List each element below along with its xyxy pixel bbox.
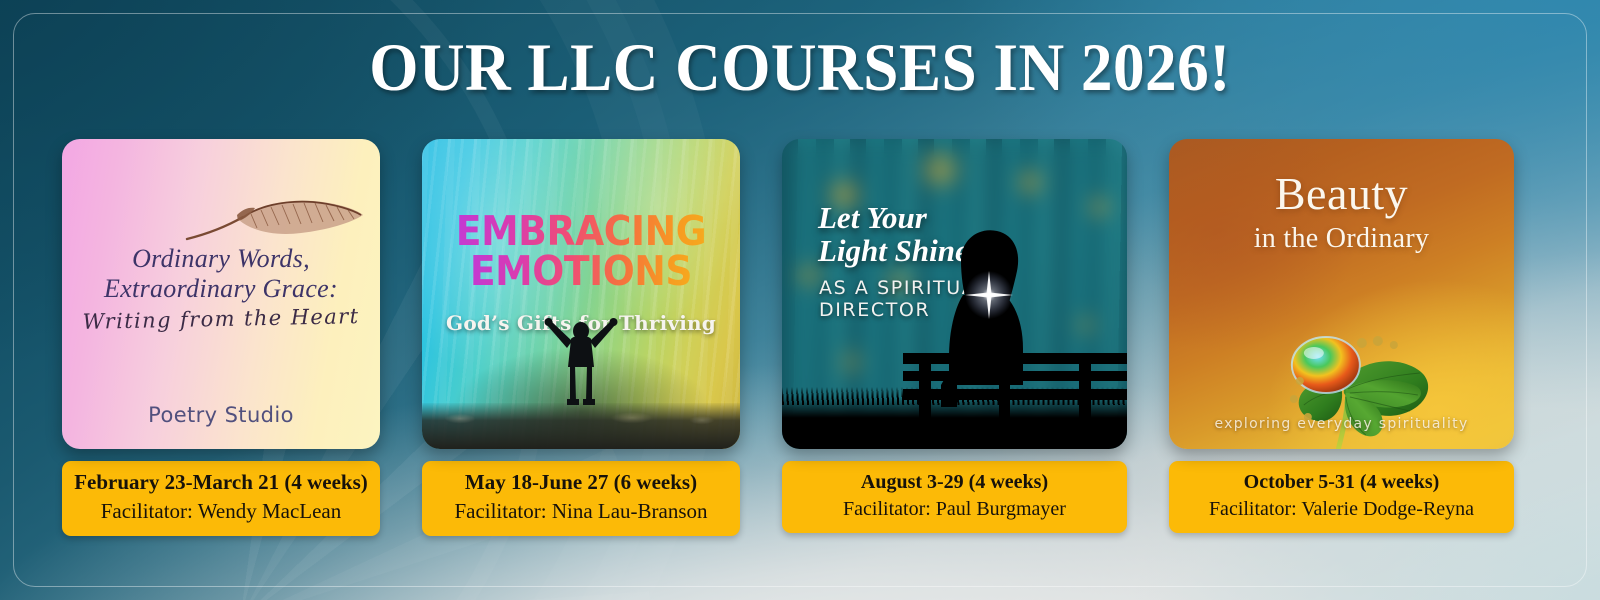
course-caption-let-your-light-shine: August 3-29 (4 weeks) Facilitator: Paul … — [782, 461, 1127, 533]
embracing-emotions-title: EMBRACING EMOTIONS — [435, 211, 728, 291]
course-artwork-beauty-in-the-ordinary: Beauty in the Ordinary — [1169, 139, 1514, 449]
poetry-footer: Poetry Studio — [62, 403, 380, 427]
course-facilitator: Facilitator: Wendy MacLean — [70, 498, 372, 525]
course-facilitator: Facilitator: Paul Burgmayer — [790, 496, 1119, 522]
course-artwork-embracing-emotions: EMBRACING EMOTIONS God’s Gifts for Thriv… — [422, 139, 740, 449]
ee-title-line2: EMOTIONS — [470, 251, 692, 291]
course-card-let-your-light-shine[interactable]: Let Your Light Shine AS A SPIRITUAL DIRE… — [782, 139, 1127, 551]
course-caption-embracing-emotions: May 18-June 27 (6 weeks) Facilitator: Ni… — [422, 461, 740, 536]
course-card-beauty-in-the-ordinary[interactable]: Beauty in the Ordinary — [1169, 139, 1514, 551]
poetry-title-line2: Extraordinary Grace: — [62, 274, 380, 304]
course-dates: October 5-31 (4 weeks) — [1177, 470, 1506, 494]
ground-silhouette — [782, 397, 1127, 449]
banner-title: OUR LLC COURSES IN 2026! — [56, 33, 1544, 101]
beauty-title: Beauty — [1169, 171, 1514, 217]
course-card-ordinary-words[interactable]: Ordinary Words, Extraordinary Grace: Wri… — [62, 139, 380, 551]
course-facilitator: Facilitator: Valerie Dodge-Reyna — [1177, 496, 1506, 522]
ee-title-line1: EMBRACING — [456, 211, 706, 251]
feather-quill-icon — [181, 197, 366, 243]
course-caption-ordinary-words: February 23-March 21 (4 weeks) Facilitat… — [62, 461, 380, 536]
course-artwork-let-your-light-shine: Let Your Light Shine AS A SPIRITUAL DIRE… — [782, 139, 1127, 449]
poetry-subtitle: Writing from the Heart — [62, 304, 380, 335]
beauty-footer: exploring everyday spirituality — [1169, 416, 1514, 432]
person-arms-raised-silhouette-icon — [526, 301, 636, 411]
beauty-subtitle: in the Ordinary — [1169, 223, 1514, 255]
course-card-embracing-emotions[interactable]: EMBRACING EMOTIONS God’s Gifts for Thriv… — [422, 139, 740, 551]
course-artwork-ordinary-words: Ordinary Words, Extraordinary Grace: Wri… — [62, 139, 380, 449]
courses-banner: OUR LLC COURSES IN 2026! — [0, 0, 1600, 600]
poetry-title-line1: Ordinary Words, — [62, 244, 380, 274]
course-dates: August 3-29 (4 weeks) — [790, 470, 1119, 494]
course-card-list: Ordinary Words, Extraordinary Grace: Wri… — [62, 139, 1514, 551]
course-facilitator: Facilitator: Nina Lau-Branson — [430, 498, 732, 525]
course-dates: February 23-March 21 (4 weeks) — [70, 470, 372, 496]
course-dates: May 18-June 27 (6 weeks) — [430, 470, 732, 496]
poetry-title: Ordinary Words, Extraordinary Grace: — [62, 244, 380, 304]
course-caption-beauty-in-the-ordinary: October 5-31 (4 weeks) Facilitator: Vale… — [1169, 461, 1514, 533]
